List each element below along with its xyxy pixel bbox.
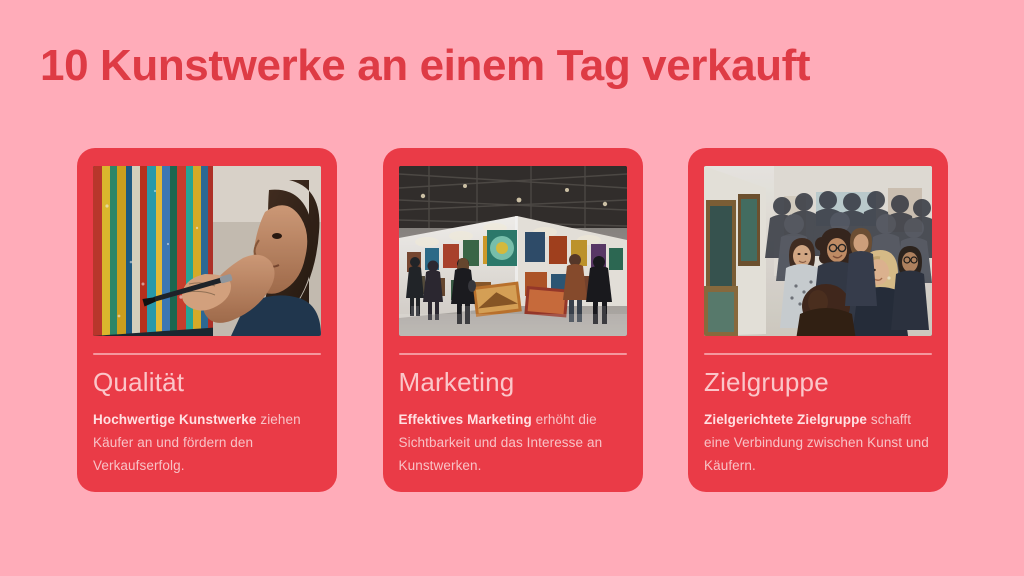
card-body: Effektives Marketing erhöht die Sichtbar… — [399, 408, 627, 477]
art-fair-booth-photo — [399, 166, 627, 336]
card-heading: Marketing — [399, 367, 627, 397]
card-heading: Qualität — [93, 367, 321, 397]
card-body-lead: Hochwertige Kunstwerke — [93, 412, 257, 427]
card-qualitaet[interactable]: Qualität Hochwertige Kunstwerke ziehen K… — [77, 148, 337, 492]
card-heading: Zielgruppe — [704, 367, 932, 397]
card-divider — [93, 353, 321, 355]
card-list: Qualität Hochwertige Kunstwerke ziehen K… — [77, 148, 948, 492]
page-title: 10 Kunstwerke an einem Tag verkauft — [40, 39, 1000, 93]
gallery-audience-photo — [704, 166, 932, 336]
card-body-lead: Effektives Marketing — [399, 412, 532, 427]
card-divider — [399, 353, 627, 355]
card-marketing[interactable]: Marketing Effektives Marketing erhöht di… — [383, 148, 643, 492]
artist-painting-canvas-photo — [93, 166, 321, 336]
card-zielgruppe[interactable]: Zielgruppe Zielgerichtete Zielgruppe sch… — [688, 148, 948, 492]
card-divider — [704, 353, 932, 355]
card-body-lead: Zielgerichtete Zielgruppe — [704, 412, 867, 427]
slide-root: 10 Kunstwerke an einem Tag verkauft — [0, 0, 1024, 576]
card-body: Hochwertige Kunstwerke ziehen Käufer an … — [93, 408, 321, 477]
card-body: Zielgerichtete Zielgruppe schafft eine V… — [704, 408, 932, 477]
